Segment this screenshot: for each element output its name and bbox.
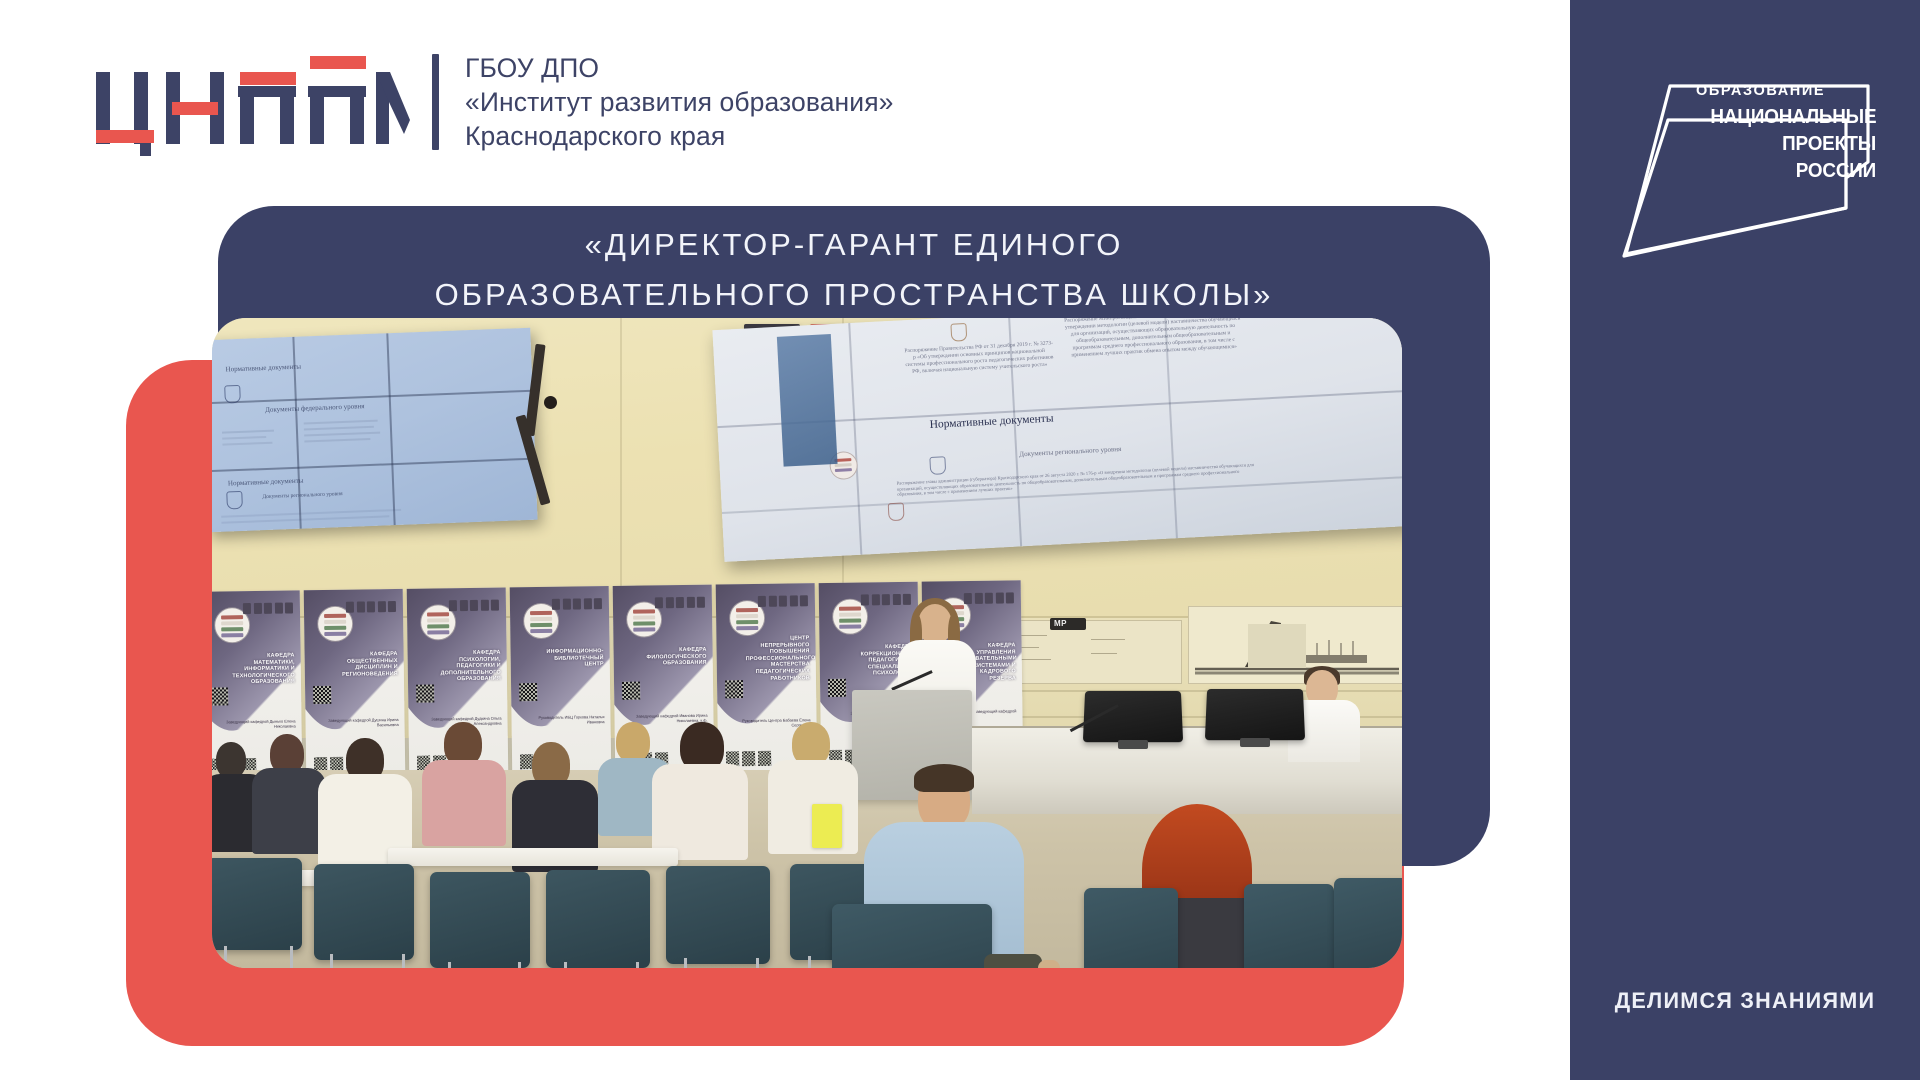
chair (832, 904, 992, 968)
speaker-head (918, 604, 952, 644)
org-name-block: ГБОУ ДПО «Институт развития образования»… (465, 51, 893, 153)
chair (430, 872, 530, 968)
qr-code-icon (725, 680, 743, 698)
emblem-icon (888, 502, 905, 521)
foreground-person-leg (984, 954, 1042, 968)
photo-content: Нормативные документы Документы федераль… (212, 318, 1402, 968)
banner-label: ЦЕНТР НЕПРЕРЫВНОГО ПОВЫШЕНИЯ ПРОФЕССИОНА… (745, 635, 810, 682)
audience-person-body (252, 768, 326, 854)
qr-code-icon (622, 682, 640, 700)
video-wall-left: Нормативные документы Документы федераль… (212, 328, 538, 533)
qr-code-icon (212, 687, 228, 705)
audience-person-body (422, 760, 506, 846)
foreground-person-hair (914, 764, 974, 792)
wall-sketch-panel (1000, 620, 1182, 684)
brand-header: ГБОУ ДПО «Институт развития образования»… (88, 48, 893, 156)
project-name-line-2: ПРОЕКТЫ (1710, 134, 1876, 154)
audience-table (388, 848, 678, 866)
banner-label: КАФЕДРА ПСИХОЛОГИИ, ПЕДАГОГИКИ И ДОПОЛНИ… (437, 650, 501, 684)
project-name-line-1: НАЦИОНАЛЬНЫЕ (1710, 107, 1876, 127)
banner-sub: Заведующий кафедрой Дынько Елена Николае… (223, 718, 295, 729)
video-wall-right: Нормативные документы Документы регионал… (712, 318, 1402, 562)
qr-code-icon (416, 684, 434, 702)
yellow-notepad (812, 804, 842, 848)
monitor-stand (1240, 738, 1270, 747)
audience-person-body (652, 764, 748, 860)
monitor-screen (1205, 689, 1305, 740)
banner-label: ИНФОРМАЦИОННО-БИБЛИОТЕЧНЫЙ ЦЕНТР (540, 648, 604, 669)
qr-code-icon (828, 679, 846, 697)
national-projects-text: ОБРАЗОВАНИЕ НАЦИОНАЛЬНЫЕ ПРОЕКТЫ РОССИИ (1696, 82, 1876, 181)
banner-label: КАФЕДРА ФИЛОЛОГИЧЕСКОГО ОБРАЗОВАНИЯ (643, 647, 707, 668)
org-line-3: Краснодарского края (465, 119, 893, 153)
banner-label: КАФЕДРА МАТЕМАТИКИ, ИНФОРМАТИКИ И ТЕХНОЛ… (231, 652, 295, 686)
screen-right-body-bottom: Распоряжение главы администрации (губерн… (897, 462, 1257, 498)
wall-sign-mr-label: МР (1054, 619, 1067, 628)
org-line-1: ГБОУ ДПО (465, 51, 893, 85)
chair (1084, 888, 1178, 968)
qr-code-icon (519, 683, 537, 701)
right-sidebar: ОБРАЗОВАНИЕ НАЦИОНАЛЬНЫЕ ПРОЕКТЫ РОССИИ … (1570, 0, 1920, 1080)
wall-seam (620, 318, 622, 618)
chair (546, 870, 650, 968)
chair (666, 866, 770, 964)
monitor-stand (1118, 740, 1148, 749)
cnppm-wordmark-logo (88, 48, 410, 156)
emblem-icon (226, 491, 243, 510)
audience-person-head (616, 722, 650, 762)
event-photo: Нормативные документы Документы федераль… (212, 318, 1402, 968)
emblem-icon (224, 385, 241, 404)
emblem-icon (950, 323, 967, 342)
banner-sub: Заведующий кафедрой Душина Ирина Василье… (326, 717, 398, 728)
chair (1244, 884, 1334, 968)
screen-right-subtitle: Документы регионального уровня (1019, 445, 1121, 458)
screen-right-body-left: Распоряжение Правительства РФ от 31 дека… (904, 340, 1055, 376)
sidebar-tagline: ДЕЛИМСЯ ЗНАНИЯМИ (1577, 988, 1913, 1014)
slide-canvas: ГБОУ ДПО «Институт развития образования»… (0, 0, 1920, 1080)
project-name-line-3: РОССИИ (1710, 161, 1876, 181)
banner-sub: Руководитель ИБЦ Горкова Наталья Ивановн… (532, 714, 604, 725)
chair (1334, 878, 1402, 968)
banner-label: КАФЕДРА ОБЩЕСТВЕННЫХ ДИСЦИПЛИН И РЕГИОНО… (334, 651, 398, 678)
brand-divider (432, 54, 439, 150)
foreground-person-hand (1038, 960, 1060, 968)
audience-person-head (216, 742, 246, 778)
screen-left-caption-mid: Документы федерального уровня (265, 402, 365, 414)
chair (212, 858, 302, 950)
wall-sketch-panel (1248, 624, 1306, 668)
org-line-2: «Институт развития образования» (465, 85, 893, 119)
screen-left-caption-top: Нормативные документы (225, 363, 301, 374)
camera-icon (544, 396, 557, 409)
chair (314, 864, 414, 960)
project-top-label: ОБРАЗОВАНИЕ (1696, 82, 1876, 100)
page-title: «ДИРЕКТОР-ГАРАНТ ЕДИНОГО ОБРАЗОВАТЕЛЬНОГ… (218, 220, 1490, 320)
qr-code-icon (313, 686, 331, 704)
emblem-icon (929, 456, 946, 475)
screen-left-caption-sub: Документы регионального уровня (262, 491, 342, 500)
screen-right-body-right: Распоряжение Минпросвещения России от 25… (1062, 318, 1244, 360)
screen-left-caption-bottom: Нормативные документы (228, 477, 304, 488)
